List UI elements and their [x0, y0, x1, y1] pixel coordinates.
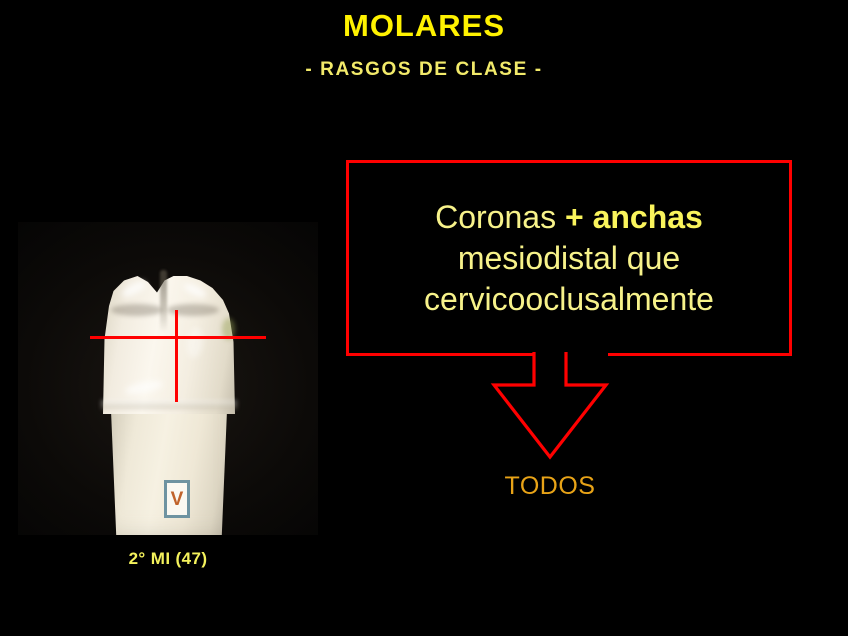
- cervicoocclusal-height-line: [175, 310, 178, 402]
- central-groove: [160, 270, 167, 332]
- tooth-crown: [94, 264, 244, 414]
- tooth-photo: V: [18, 222, 318, 535]
- callout-line2: mesiodistal que: [458, 240, 680, 276]
- vestibular-marker: V: [164, 480, 190, 518]
- page-title: MOLARES: [0, 8, 848, 44]
- down-arrow-icon: [470, 352, 670, 464]
- page-subtitle: - RASGOS DE CLASE -: [0, 58, 848, 82]
- vestibular-marker-label: V: [171, 490, 184, 509]
- callout-box: Coronas + anchas mesiodistal que cervico…: [346, 160, 792, 356]
- mesiodistal-width-line: [90, 336, 266, 339]
- arrow-outline: [494, 352, 606, 457]
- callout-line1-emphasis: + anchas: [565, 199, 703, 235]
- cervical-line: [101, 400, 237, 409]
- callout-line1-prefix: Coronas: [435, 199, 565, 235]
- conclusion-label: TODOS: [450, 472, 650, 501]
- callout-text: Coronas + anchas mesiodistal que cervico…: [414, 197, 724, 320]
- callout-line3: cervicooclusalmente: [424, 281, 714, 317]
- mesial-cusp-shadow: [111, 304, 163, 316]
- photo-caption: 2° MI (47): [18, 549, 318, 569]
